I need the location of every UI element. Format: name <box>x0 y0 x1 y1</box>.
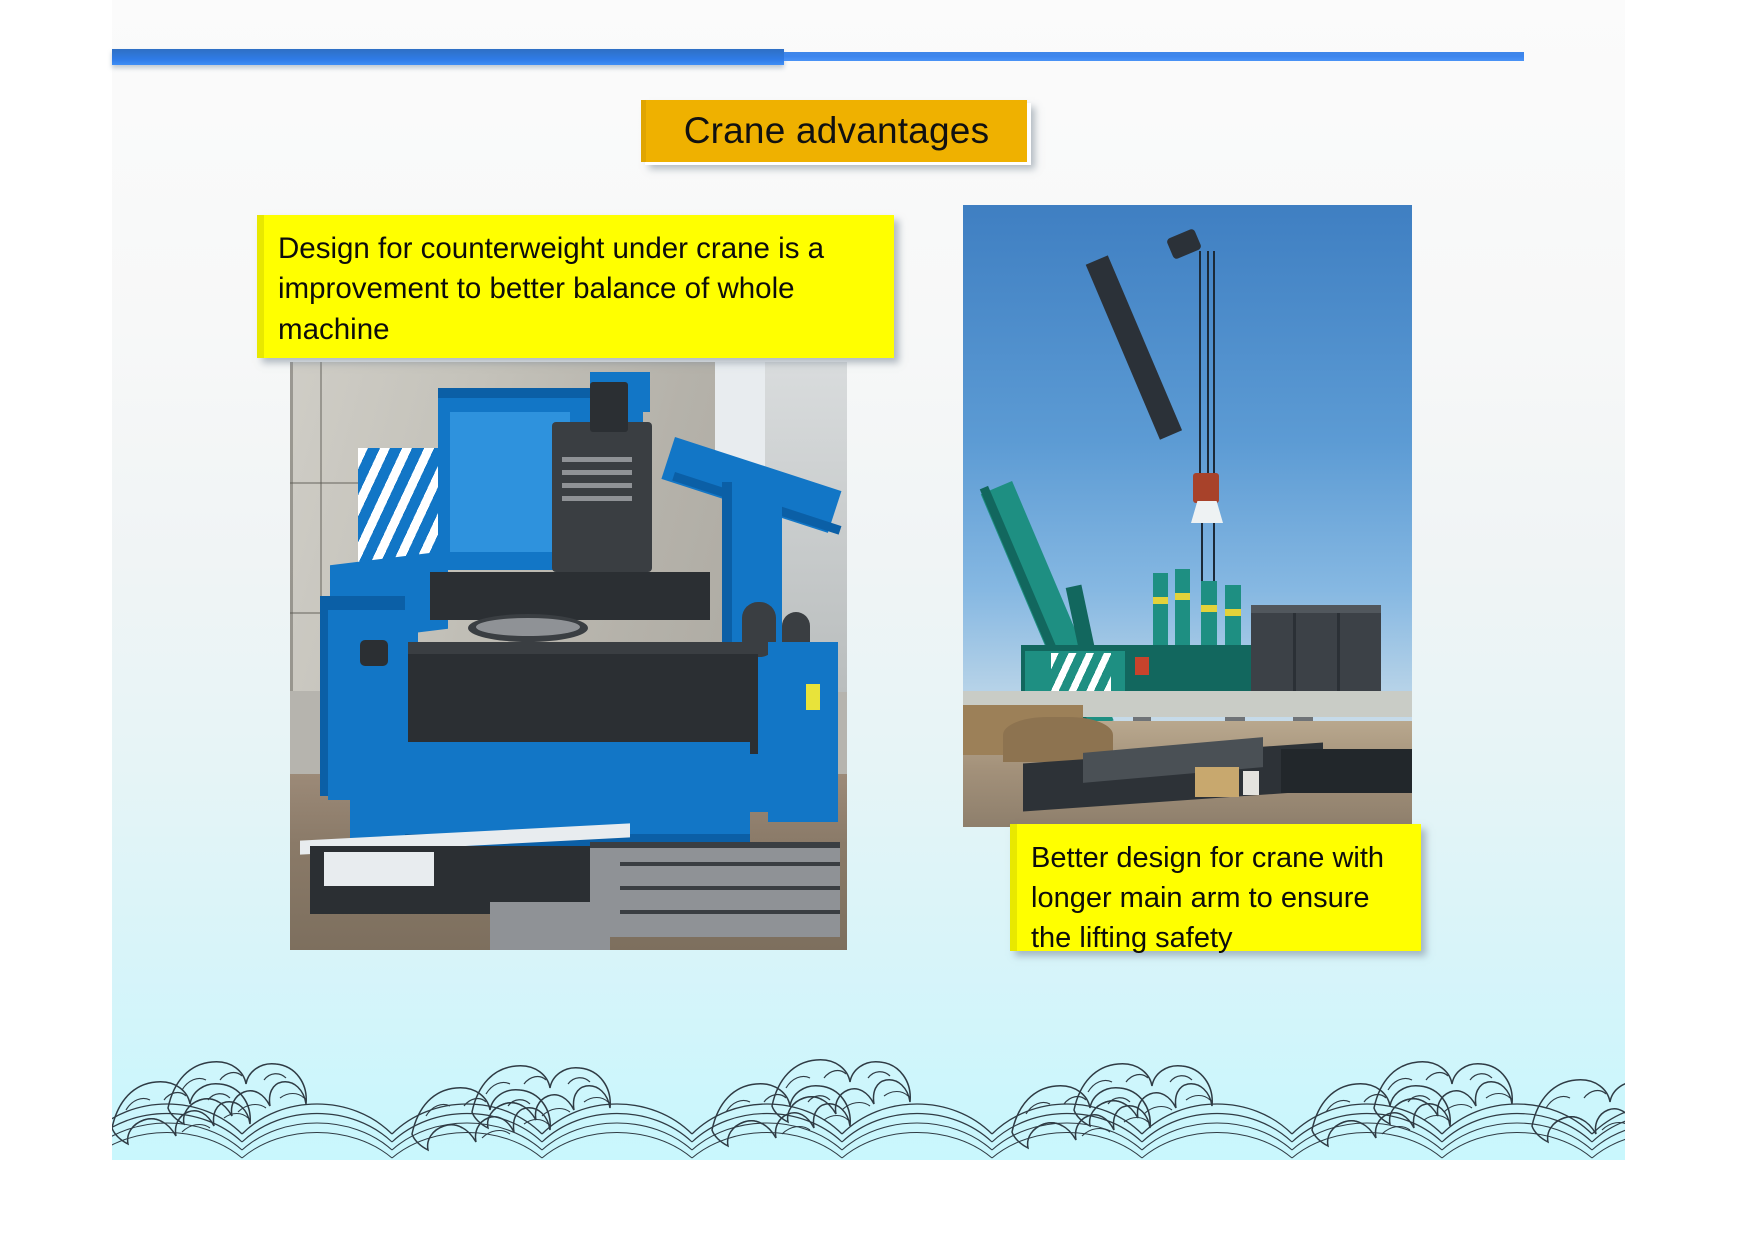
callout-counterweight: Design for counterweight under crane is … <box>257 215 894 358</box>
slide-canvas: Crane advantages <box>0 0 1754 1240</box>
machine-warning-label <box>806 684 820 710</box>
cylinder-band <box>1225 609 1241 616</box>
callout-right-text: Better design for crane with longer main… <box>1031 838 1401 958</box>
header-accent-bar <box>112 49 784 65</box>
machine-louver <box>562 470 632 475</box>
steel-mat-line <box>620 862 840 866</box>
callout-main-arm: Better design for crane with longer main… <box>1010 824 1421 951</box>
hoist-cable <box>1199 251 1201 476</box>
steel-mat-line <box>620 910 840 914</box>
wall-seam <box>290 362 293 691</box>
header-accent-line <box>784 52 1524 61</box>
steel-mat-right <box>1281 749 1412 793</box>
machine-access-hole <box>360 640 388 666</box>
callout-left-text: Design for counterweight under crane is … <box>278 229 874 350</box>
steel-mat-edge <box>590 842 840 848</box>
bucket <box>1243 771 1259 795</box>
hoist-cable <box>1213 251 1215 476</box>
page-title-label: Crane advantages <box>684 110 990 152</box>
machine-turntable-deck <box>430 572 710 620</box>
page-title: Crane advantages <box>641 100 1027 162</box>
cylinder-band <box>1153 597 1168 604</box>
body-marking <box>1135 657 1149 675</box>
counterweight-top <box>1251 605 1381 613</box>
machine-louver <box>562 457 632 462</box>
machine-louver <box>562 483 632 488</box>
hook-block <box>1193 473 1219 503</box>
cylinder-band <box>1201 605 1217 612</box>
cylinder-band <box>1175 593 1190 600</box>
hoist-cable <box>1207 251 1209 476</box>
machine-motor <box>590 382 628 432</box>
photo-crane-onsite <box>963 205 1412 827</box>
machine-slew-ring-inner <box>476 618 580 636</box>
machine-side-frame <box>768 642 838 822</box>
photo-counterweight <box>290 362 847 950</box>
machine-base-plate <box>324 852 434 886</box>
counterweight-beam <box>408 642 758 754</box>
machine-louver <box>562 496 632 501</box>
counterweight-beam-top <box>408 642 758 654</box>
steel-mat-line <box>620 886 840 890</box>
cardboard-box <box>1195 767 1239 797</box>
steel-mat-secondary <box>490 902 610 950</box>
